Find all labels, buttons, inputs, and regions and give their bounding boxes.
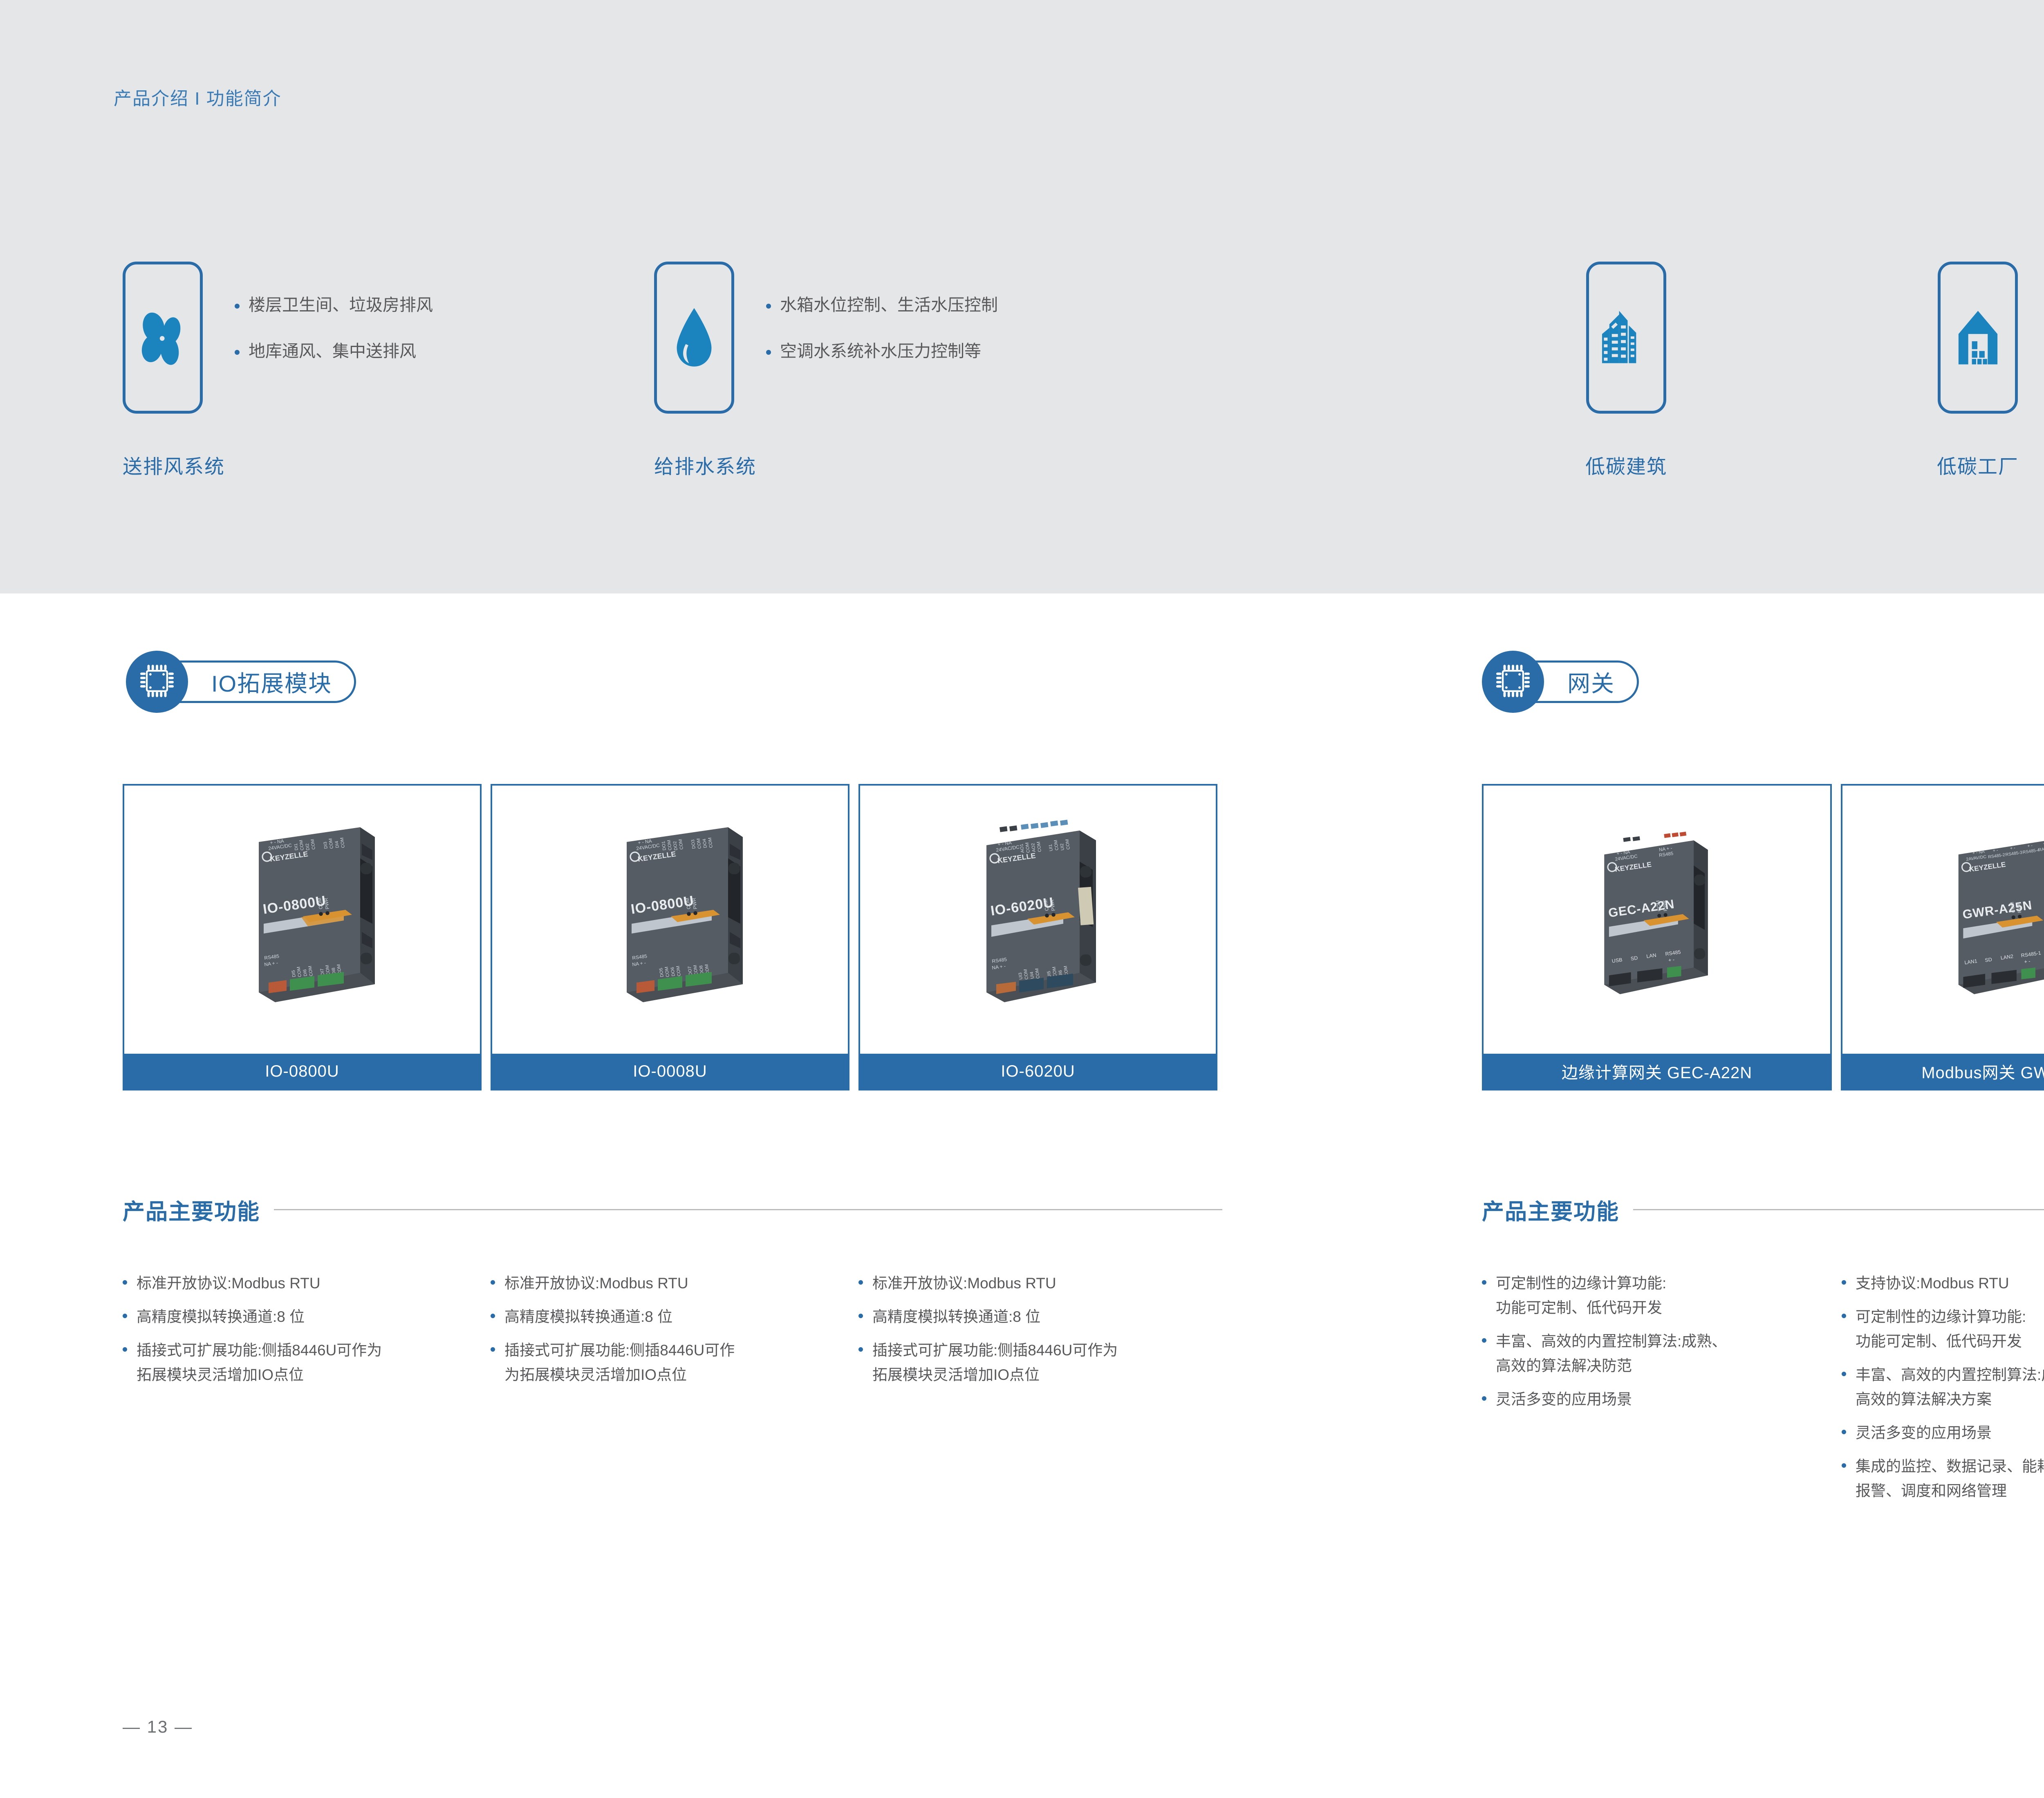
product-image: GEC-A22N KEYZELLE + - NA 24VAC/DC NA + -… [1484,786,1830,1054]
list-item: 标准开放协议:Modbus RTU [123,1271,491,1296]
heading-rule [274,1209,1222,1210]
svg-text:UI1: UI1 [1048,844,1054,852]
section-title-gateways: 网关 [1567,665,1615,699]
scene-low-carbon-factory-title: 低碳工厂 [1937,450,2019,479]
office-building-icon-box [1586,262,1666,414]
list-item: 标准开放协议:Modbus RTU [491,1271,858,1296]
product-card[interactable]: IO-0800U KEYZELLE + - NA 24VAC/DC DI1 CO… [123,784,482,1090]
svg-text:SD: SD [1985,956,1992,963]
svg-text:DI3: DI3 [323,842,329,849]
list-item: 楼层卫生间、垃圾房排风 [235,297,433,313]
factory-icon [1952,307,2004,368]
product-cards-io-modules: IO-0800U KEYZELLE + - NA 24VAC/DC DI1 CO… [123,784,1217,1090]
feature-text-cont: 功能可定制、低代码开发 [1496,1296,1842,1320]
feature-text-cont: 为拓展模块灵活增加IO点位 [504,1363,858,1387]
product-image: IO-0800U KEYZELLE + - NA 24VAC/DC DO1 CO… [492,786,848,1054]
heading-rule [1633,1209,2044,1210]
svg-text:+ -: + - [2024,958,2031,965]
product-label: IO-0008U [492,1054,848,1089]
svg-text:SD: SD [1630,955,1638,962]
product-card[interactable]: IO-6020U KEYZELLE + - NA 24VAC/DC AO1 CO… [858,784,1217,1090]
feature-text: 插接式可扩展功能:侧插8446U可作为 [872,1342,1118,1359]
feature-text: 可定制性的边缘计算功能: [1496,1275,1666,1292]
feature-text-cont: 拓展模块灵活增加IO点位 [872,1363,1226,1387]
feature-text: 集成的监控、数据记录、能耗计量、 [1856,1458,2044,1475]
scene-water-supply: 水箱水位控制、生活水压控制 空调水系统补水压力控制等 给排水系统 [654,262,998,479]
fan-icon-box [123,262,203,414]
device-illustration-gec-a22n: GEC-A22N KEYZELLE + - NA 24VAC/DC NA + -… [1559,813,1755,1026]
features-heading-io-modules: 产品主要功能 [123,1193,1222,1226]
page-number-left: — 13 — [123,1717,193,1737]
section-header-io-modules: IO拓展模块 [126,651,356,713]
list-item: 地库通风、集中送排风 [235,343,433,360]
feature-text: 标准开放协议:Modbus RTU [137,1275,320,1292]
feature-text: 丰富、高效的内置控制算法:成熟、 [1856,1366,2044,1383]
product-image: IO-6020U KEYZELLE + - NA 24VAC/DC AO1 CO… [860,786,1216,1054]
scene-low-carbon-building-title: 低碳建筑 [1585,450,1667,479]
svg-text:DI4: DI4 [334,841,340,849]
list-item: 插接式可扩展功能:侧插8446U可作为 拓展模块灵活增加IO点位 [858,1338,1226,1387]
features-heading-text: 产品主要功能 [123,1193,260,1226]
feature-text-cont: 高效的算法解决方案 [1856,1387,2044,1412]
device-illustration-io-0800u: IO-0800U KEYZELLE + - NA 24VAC/DC DI1 CO… [200,809,404,1030]
scene-ventilation-title: 送排风系统 [123,450,433,479]
feature-text: 高精度模拟转换通道:8 位 [872,1308,1040,1325]
svg-text:+ -: + - [1668,957,1675,963]
water-drop-icon [672,305,717,370]
scene-ventilation-bullets: 楼层卫生间、垃圾房排风 地库通风、集中送排风 [235,262,433,360]
feature-text-cont: 功能可定制、低代码开发 [1856,1329,2044,1354]
list-item: 标准开放协议:Modbus RTU [858,1271,1226,1296]
feature-text: 灵活多变的应用场景 [1496,1391,1632,1408]
water-drop-icon-box [654,262,734,414]
list-item: 插接式可扩展功能:侧插8446U可作为 拓展模块灵活增加IO点位 [123,1338,491,1387]
device-illustration-io-0008u: IO-0800U KEYZELLE + - NA 24VAC/DC DO1 CO… [568,809,772,1030]
list-item: 支持协议:Modbus RTU [1842,1271,2044,1296]
features-gateways: 可定制性的边缘计算功能: 功能可定制、低代码开发 丰富、高效的内置控制算法:成熟… [1482,1271,2044,1512]
list-item: 丰富、高效的内置控制算法:成熟、 高效的算法解决防范 [1482,1329,1842,1378]
product-card[interactable]: GEC-A22N KEYZELLE + - NA 24VAC/DC NA + -… [1482,784,1832,1090]
feature-text: 高精度模拟转换通道:8 位 [504,1308,672,1325]
features-io-modules: 标准开放协议:Modbus RTU 高精度模拟转换通道:8 位 插接式可扩展功能… [123,1271,1226,1396]
feature-text: 插接式可扩展功能:侧插8446U可作为 [137,1342,382,1359]
feature-text: 丰富、高效的内置控制算法:成熟、 [1496,1333,1727,1350]
list-item: 可定制性的边缘计算功能: 功能可定制、低代码开发 [1482,1271,1842,1320]
product-image: GWR-A25N KEYZELLE + - NA 2AVAV/DC + - RS… [1842,786,2044,1054]
list-item: 空调水系统补水压力控制等 [766,343,998,360]
scene-water-supply-bullets: 水箱水位控制、生活水压控制 空调水系统补水压力控制等 [766,262,998,360]
feature-text-cont: 拓展模块灵活增加IO点位 [137,1363,491,1387]
svg-text:DI5: DI5 [291,970,297,978]
chip-icon [139,663,175,701]
factory-icon-box [1938,262,2018,414]
svg-text:+ -: + - [2027,843,2033,849]
feature-column: 标准开放协议:Modbus RTU 高精度模拟转换通道:8 位 插接式可扩展功能… [858,1271,1226,1396]
feature-text: 标准开放协议:Modbus RTU [872,1275,1056,1292]
feature-text: 支持协议:Modbus RTU [1856,1275,2009,1292]
feature-text-cont: 报警、调度和网络管理 [1856,1479,2044,1503]
running-head-left: 产品介绍 I 功能简介 [114,84,282,110]
product-card[interactable]: IO-0800U KEYZELLE + - NA 24VAC/DC DO1 CO… [491,784,849,1090]
product-label: 边缘计算网关 GEC-A22N [1484,1054,1830,1089]
scene-low-carbon-factory: 低碳工厂 [1937,262,2019,479]
svg-text:DI6: DI6 [303,969,308,977]
product-cards-gateways: GEC-A22N KEYZELLE + - NA 24VAC/DC NA + -… [1482,784,2044,1090]
list-item: 插接式可扩展功能:侧插8446U可作 为拓展模块灵活增加IO点位 [491,1338,858,1387]
feature-column: 标准开放协议:Modbus RTU 高精度模拟转换通道:8 位 插接式可扩展功能… [491,1271,858,1396]
list-item: 高精度模拟转换通道:8 位 [123,1305,491,1329]
feature-text-cont: 高效的算法解决防范 [1496,1354,1842,1378]
office-building-icon [1601,307,1652,368]
feature-column: 支持协议:Modbus RTU 可定制性的边缘计算功能: 功能可定制、低代码开发… [1842,1271,2044,1512]
scene-water-supply-title: 给排水系统 [654,450,998,479]
product-label: Modbus网关 GWR-A25N [1842,1054,2044,1089]
list-item: 丰富、高效的内置控制算法:成熟、 高效的算法解决方案 [1842,1363,2044,1412]
svg-text:DI1: DI1 [294,843,299,851]
section-title-io-modules: IO拓展模块 [211,665,332,699]
svg-text:+ -: + - [1992,848,1999,853]
svg-text:UI4: UI4 [1029,972,1035,979]
list-item: 高精度模拟转换通道:8 位 [858,1305,1226,1329]
list-item: 灵活多变的应用场景 [1842,1421,2044,1445]
scene-ventilation: 楼层卫生间、垃圾房排风 地库通风、集中送排风 送排风系统 [123,262,433,479]
list-item: 集成的监控、数据记录、能耗计量、 报警、调度和网络管理 [1842,1454,2044,1503]
scene-low-carbon-building: 低碳建筑 [1585,262,1667,479]
chip-icon [1495,663,1531,701]
svg-text:UI3: UI3 [1018,972,1024,980]
device-illustration-io-6020u: IO-6020U KEYZELLE + - NA 24VAC/DC AO1 CO… [936,809,1140,1030]
fan-icon [136,307,189,368]
product-card[interactable]: GWR-A25N KEYZELLE + - NA 2AVAV/DC + - RS… [1841,784,2044,1090]
feature-column: 可定制性的边缘计算功能: 功能可定制、低代码开发 丰富、高效的内置控制算法:成熟… [1482,1271,1842,1512]
product-label: IO-6020U [860,1054,1216,1089]
svg-text:+ -: + - [2010,845,2016,851]
features-heading-gateways: 产品主要功能 [1482,1193,2044,1226]
chip-icon-badge [126,651,188,713]
list-item: 水箱水位控制、生活水压控制 [766,297,998,313]
list-item: 灵活多变的应用场景 [1482,1387,1842,1412]
feature-column: 标准开放协议:Modbus RTU 高精度模拟转换通道:8 位 插接式可扩展功能… [123,1271,491,1396]
feature-text: 可定制性的边缘计算功能: [1856,1308,2026,1325]
chip-icon-badge [1482,651,1544,713]
section-header-gateways: 网关 [1482,651,1639,713]
catalog-spread: 产品介绍 I 功能简介 产品介绍 I 功能简介 [0,0,2044,1798]
svg-text:DI2: DI2 [305,843,311,851]
list-item: 可定制性的边缘计算功能: 功能可定制、低代码开发 [1842,1305,2044,1354]
feature-text: 灵活多变的应用场景 [1856,1424,1992,1441]
product-label: IO-0800U [124,1054,480,1089]
list-item: 高精度模拟转换通道:8 位 [491,1305,858,1329]
features-heading-text: 产品主要功能 [1482,1193,1619,1226]
feature-text: 高精度模拟转换通道:8 位 [137,1308,305,1325]
product-image: IO-0800U KEYZELLE + - NA 24VAC/DC DI1 CO… [124,786,480,1054]
device-illustration-gwr-a25n: GWR-A25N KEYZELLE + - NA 2AVAV/DC + - RS… [1918,813,2044,1026]
feature-text: 标准开放协议:Modbus RTU [504,1275,688,1292]
feature-text: 插接式可扩展功能:侧插8446U可作 [504,1342,735,1359]
svg-text:UI2: UI2 [1060,843,1065,851]
